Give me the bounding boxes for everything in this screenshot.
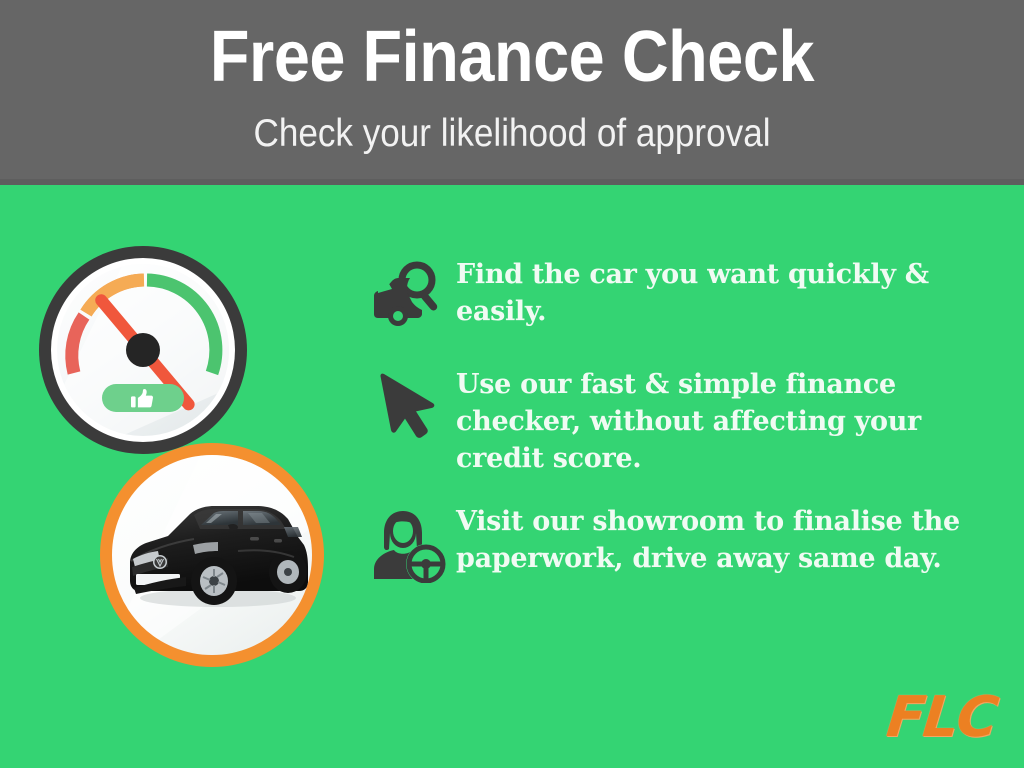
- car-photo-svg: [98, 441, 326, 669]
- mouse-cursor-icon: [360, 366, 456, 450]
- page-subtitle: Check your likelihood of approval: [51, 110, 973, 158]
- list-item: Use our fast & simple finance checker, w…: [360, 366, 1000, 477]
- approval-gauge-svg: [36, 243, 250, 457]
- list-item: Visit our showroom to finalise the paper…: [360, 503, 1000, 587]
- free-finance-check-banner: Free Finance Check Check your likelihood…: [0, 0, 1024, 768]
- benefit-list: Find the car you want quickly & easily. …: [360, 256, 1000, 613]
- car-photo-circle: [98, 441, 326, 669]
- list-item-text: Use our fast & simple finance checker, w…: [456, 366, 968, 477]
- flc-logo: FLC: [884, 690, 999, 746]
- list-item-text: Visit our showroom to finalise the paper…: [456, 503, 968, 577]
- header-band: Free Finance Check Check your likelihood…: [0, 0, 1024, 179]
- person-steering-wheel-icon: [360, 503, 456, 587]
- car-search-icon: [360, 256, 456, 340]
- approval-gauge: [36, 243, 250, 457]
- graphics-column: [0, 179, 400, 768]
- page-title: Free Finance Check: [51, 14, 973, 100]
- list-item: Find the car you want quickly & easily.: [360, 256, 1000, 340]
- thumbs-up-badge: [102, 384, 184, 412]
- list-item-text: Find the car you want quickly & easily.: [456, 256, 968, 330]
